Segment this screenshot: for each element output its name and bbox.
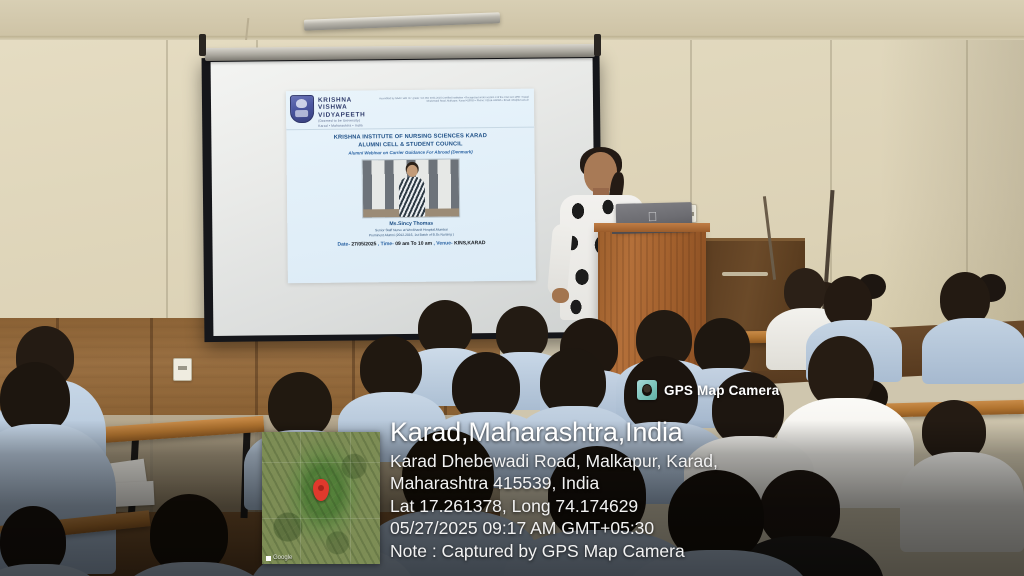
map-attribution: Google: [266, 555, 292, 561]
map-gridline: [262, 462, 380, 463]
camera-lens-icon: [637, 380, 657, 400]
head: [268, 372, 332, 438]
gps-timestamp: 05/27/2025 09:17 AM GMT+05:30: [390, 517, 1010, 540]
university-subtagline: Karad • Maharashtra • India: [318, 123, 365, 128]
podium-top: [594, 223, 710, 232]
time-value: 09 am To 10 am: [395, 240, 432, 246]
paper-sheet: [109, 481, 154, 507]
venue-value: KINS,KARAD: [454, 240, 485, 246]
gps-address-line-2: Maharashtra 415539, India: [390, 472, 1010, 495]
gps-note: Note : Captured by GPS Map Camera: [390, 540, 1010, 563]
google-logo-icon: [266, 556, 271, 561]
gps-location-title: Karad,Maharashtra,India: [390, 417, 1010, 448]
slide-dateline: Date- 27/05/2025 , Time- 09 am To 10 am …: [293, 239, 529, 248]
gps-address-line-1: Karad Dhebewadi Road, Malkapur, Karad,: [390, 450, 1010, 473]
university-name-block: KRISHNA VISHWA VIDYAPEETH (Deemed to be …: [318, 94, 366, 128]
gps-info-block: Karad,Maharashtra,India Karad Dhebewadi …: [390, 417, 1010, 563]
apple-logo-icon: : [647, 211, 658, 223]
map-thumbnail[interactable]: Google: [262, 432, 380, 564]
slide-body: KRISHNA INSTITUTE OF NURSING SCIENCES KA…: [286, 128, 535, 249]
time-label: , Time-: [378, 241, 394, 247]
wall-seam: [166, 40, 168, 340]
map-gridline: [300, 432, 301, 564]
presentation-slide: KRISHNA VISHWA VIDYAPEETH (Deemed to be …: [286, 89, 536, 284]
shoulders: [922, 318, 1024, 384]
cabinet-handle: [722, 272, 768, 276]
map-attribution-label: Google: [273, 555, 292, 561]
ceiling: [0, 0, 1024, 40]
date-label: Date-: [337, 241, 350, 247]
wall-socket-icon: [173, 358, 192, 381]
slide-header: KRISHNA VISHWA VIDYAPEETH (Deemed to be …: [286, 89, 534, 131]
photo-speaker-head: [407, 165, 418, 177]
projector-screen: KRISHNA VISHWA VIDYAPEETH (Deemed to be …: [202, 54, 603, 342]
gps-coordinates: Lat 17.261378, Long 74.174629: [390, 495, 1010, 518]
accreditation-text: Accredited by NAAC with 'A+' grade • An …: [369, 93, 529, 104]
presenter-hand: [552, 288, 569, 303]
date-value: 27/05/2025: [351, 241, 376, 247]
screen-bracket: [594, 34, 601, 56]
screen-bracket: [199, 34, 206, 56]
map-gridline: [262, 518, 380, 519]
projection-surface: KRISHNA VISHWA VIDYAPEETH (Deemed to be …: [211, 58, 596, 336]
university-crest-icon: [290, 95, 314, 123]
head: [360, 336, 422, 400]
slide-event-title: Alumni Webinar on Carrier Guidance For A…: [292, 148, 528, 157]
watermark-label: GPS Map Camera: [664, 383, 779, 398]
gps-map-camera-watermark: GPS Map Camera: [637, 380, 779, 400]
venue-label: , Venue-: [433, 240, 452, 246]
photo-speaker-body: [399, 177, 425, 217]
gps-map-camera-photo: KRISHNA VISHWA VIDYAPEETH (Deemed to be …: [0, 0, 1024, 576]
speaker-photo: [362, 158, 461, 218]
map-gridline: [350, 432, 351, 564]
